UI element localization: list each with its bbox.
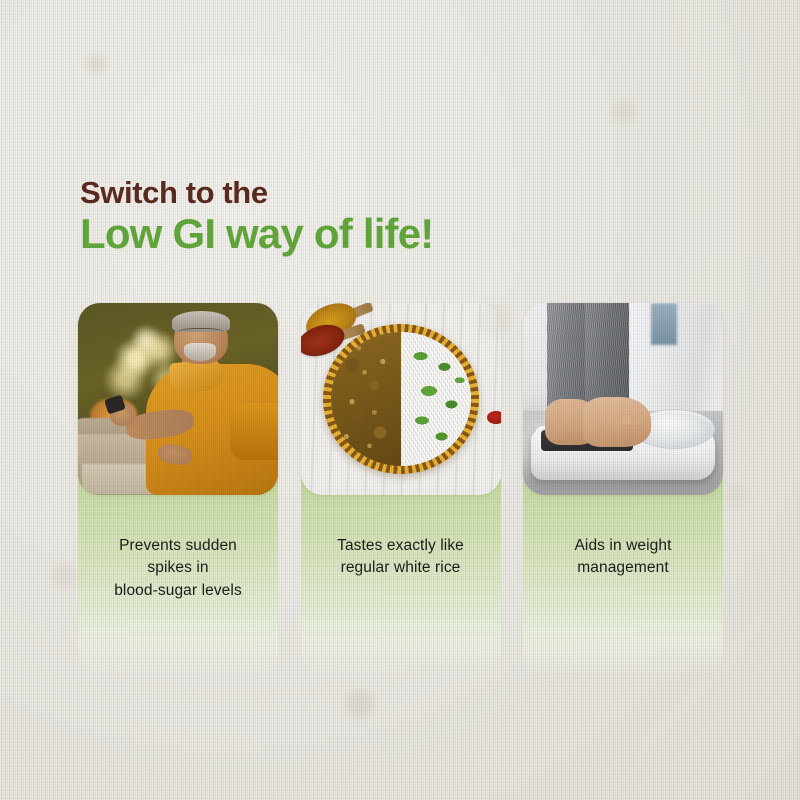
headline-line-2: Low GI way of life!: [80, 211, 434, 257]
caption-line: Aids in weight: [574, 537, 671, 554]
benefit-card-row: Prevents sudden spikes in blood-sugar le…: [78, 303, 723, 675]
benefit-card-weight: Aids in weight management: [523, 303, 723, 675]
card-photo-dal-rice-thali: [301, 303, 501, 495]
caption-line: management: [577, 559, 668, 576]
caption-line: spikes in: [147, 559, 208, 576]
caption-line: blood-sugar levels: [114, 582, 242, 599]
caption-line: Tastes exactly like: [337, 537, 464, 554]
benefit-card-blood-sugar: Prevents sudden spikes in blood-sugar le…: [78, 303, 278, 675]
card-photo-glucometer-man: [78, 303, 278, 495]
caption-line: Prevents sudden: [119, 537, 237, 554]
poster-canvas: Switch to the Low GI way of life!: [0, 0, 800, 800]
headline-line-1: Switch to the: [80, 176, 434, 209]
headline-block: Switch to the Low GI way of life!: [80, 176, 434, 258]
card-caption: Prevents sudden spikes in blood-sugar le…: [78, 535, 278, 602]
card-caption: Tastes exactly like regular white rice: [301, 535, 501, 580]
card-caption: Aids in weight management: [523, 535, 723, 580]
card-photo-weighing-scale: [523, 303, 723, 495]
benefit-card-taste: Tastes exactly like regular white rice: [301, 303, 501, 675]
caption-line: regular white rice: [341, 559, 461, 576]
